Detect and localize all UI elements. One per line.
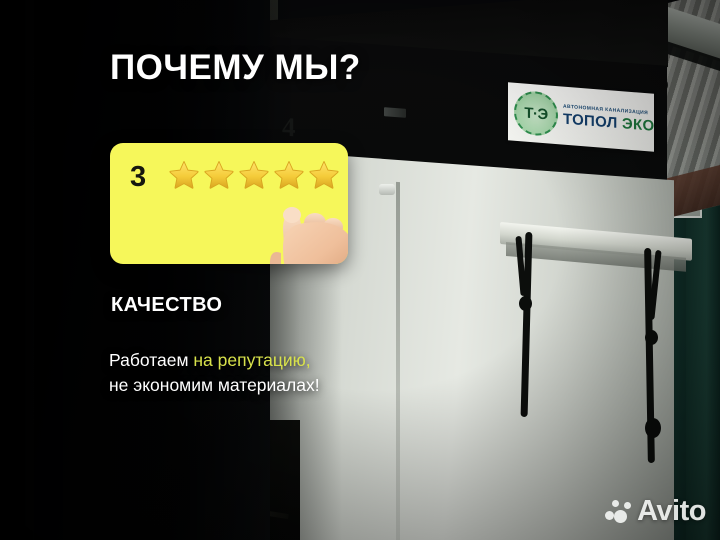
star-icon <box>308 158 340 190</box>
tank-seam <box>396 182 400 540</box>
section-heading: КАЧЕСТВО <box>111 294 222 317</box>
star-rating <box>168 158 340 190</box>
rope-knot <box>645 330 658 345</box>
listing-image: 4 Т·Э АВТОНОМНАЯ КАНАЛИЗАЦИЯ ТОПОЛ ЭКО П… <box>0 0 720 540</box>
rating-number: 3 <box>130 163 146 192</box>
rating-card: 3 <box>110 143 348 264</box>
rope-knot <box>519 296 532 311</box>
star-icon <box>273 158 305 190</box>
body-copy: Работаем на репутацию, не экономим матер… <box>109 348 320 399</box>
logo-monogram: Т·Э <box>524 104 547 123</box>
star-icon <box>168 158 200 190</box>
page-title: ПОЧЕМУ МЫ? <box>110 50 361 85</box>
body-line1-highlight: на репутацию, <box>193 350 310 370</box>
star-icon <box>203 158 235 190</box>
tank-latch-knob <box>379 184 395 195</box>
body-line2: не экономим материалах! <box>109 375 320 395</box>
label-brand-part2: ЭКО <box>622 115 654 135</box>
product-brand-label: Т·Э АВТОНОМНАЯ КАНАЛИЗАЦИЯ ТОПОЛ ЭКО <box>508 82 654 151</box>
pointing-hand-emoji <box>253 187 348 264</box>
avito-watermark: Avito <box>605 497 706 526</box>
tank-lid-vent <box>384 107 406 118</box>
star-icon <box>238 158 270 190</box>
body-line1: Работаем на репутацию, <box>109 350 311 370</box>
body-line1-plain: Работаем <box>109 350 193 370</box>
tank-marking-number: 4 <box>282 112 296 144</box>
dark-left-edge <box>0 0 34 540</box>
topol-eko-logo-icon: Т·Э <box>514 90 558 137</box>
label-brand-part1: ТОПОЛ <box>563 111 618 132</box>
avito-wordmark: Avito <box>637 497 706 526</box>
rope-knot <box>645 418 661 438</box>
label-text-block: АВТОНОМНАЯ КАНАЛИЗАЦИЯ ТОПОЛ ЭКО <box>563 105 654 134</box>
avito-dots-logo <box>605 500 631 524</box>
